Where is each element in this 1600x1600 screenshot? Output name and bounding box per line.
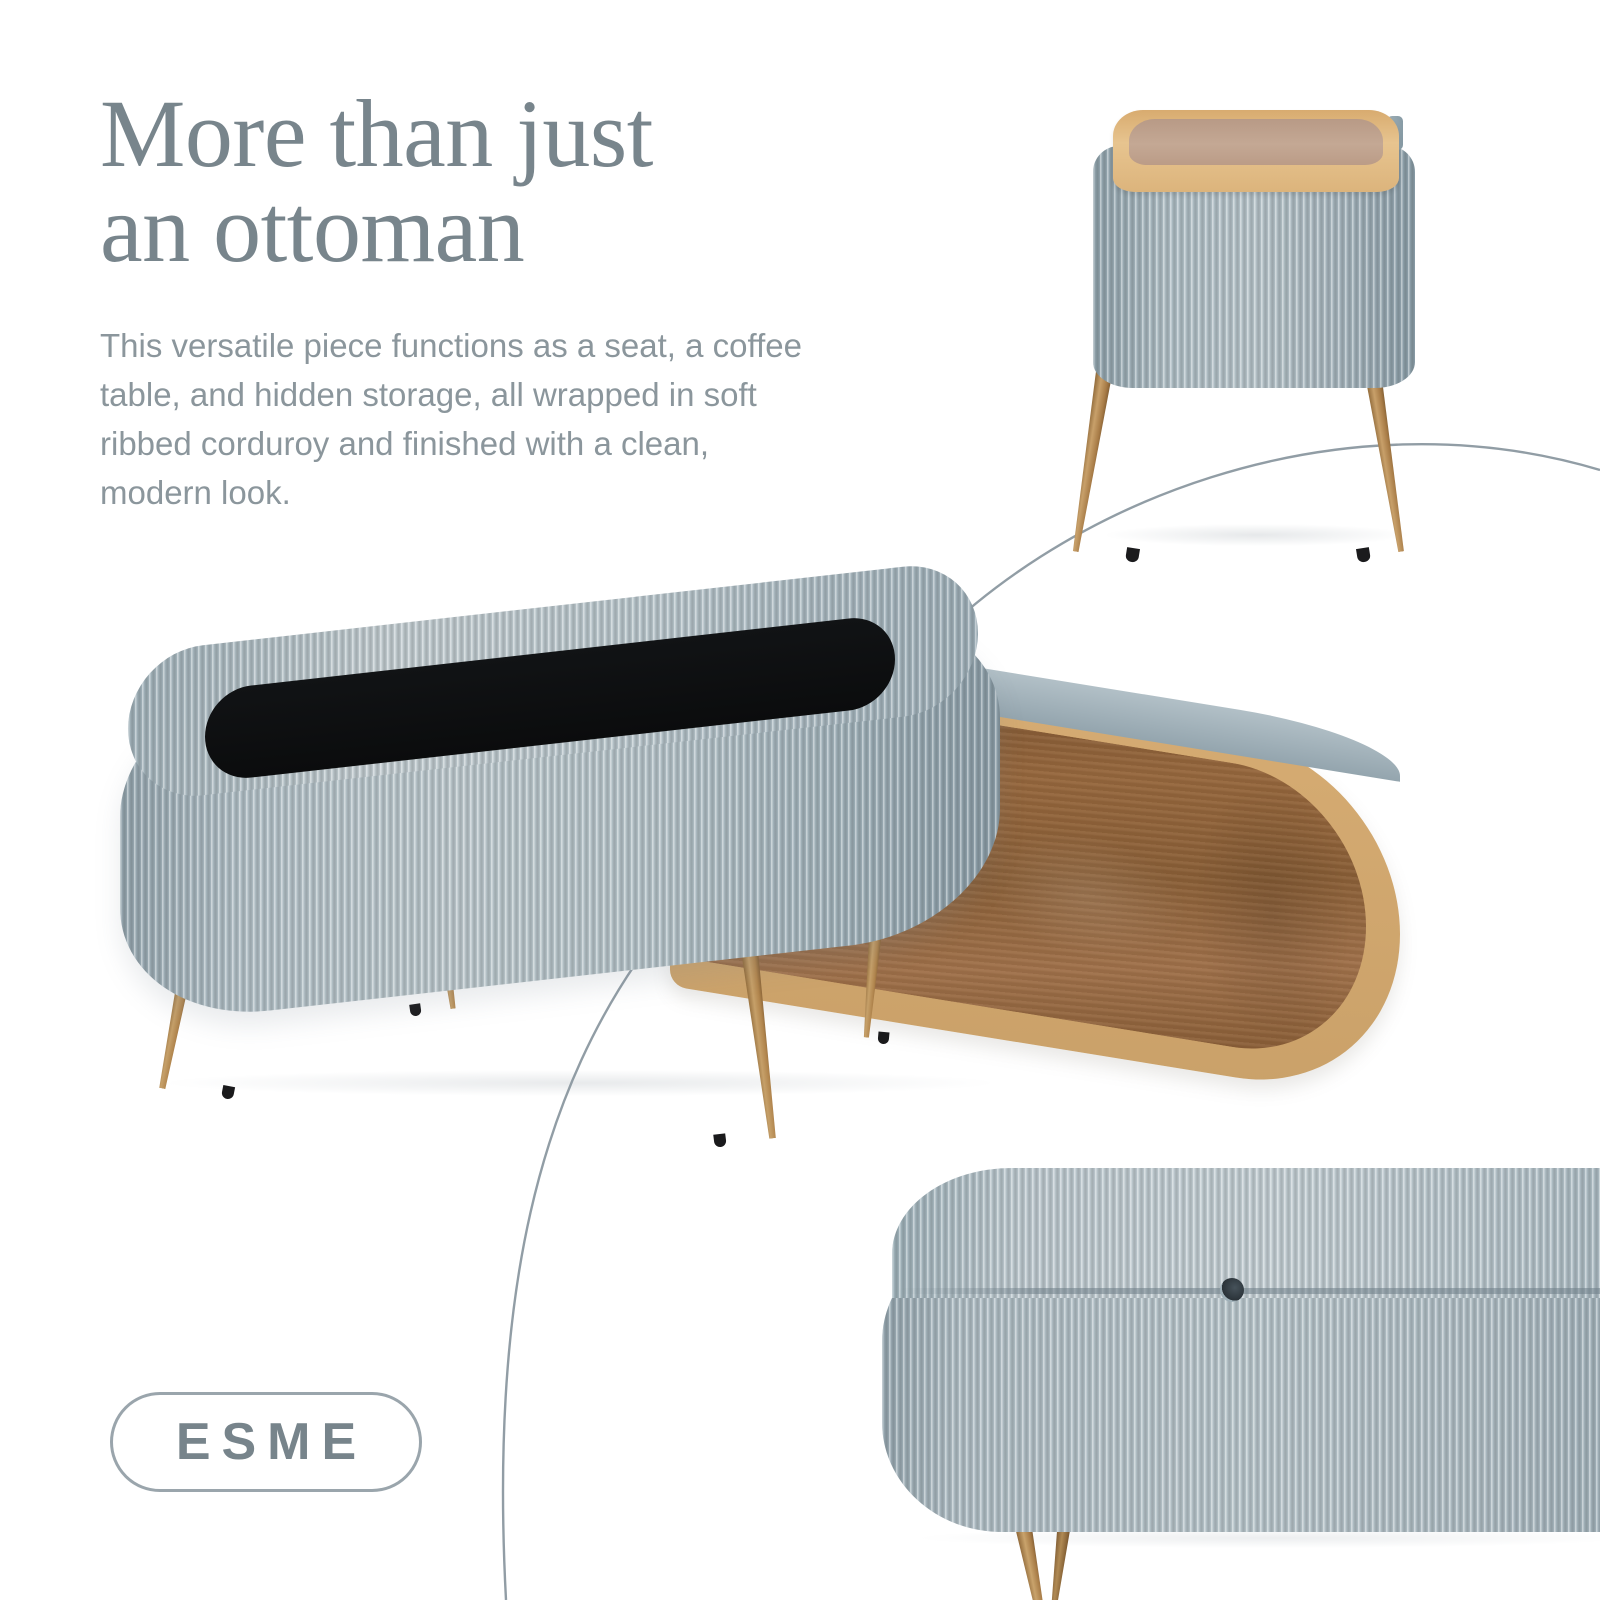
main-foot-2 — [409, 1003, 422, 1016]
end-view-foot-right — [1356, 547, 1371, 563]
end-view-wood-tray-lid — [1113, 110, 1399, 192]
end-view-tray-recess — [1129, 119, 1383, 165]
end-view-foot-left — [1125, 547, 1140, 563]
main-foot-3 — [713, 1133, 726, 1147]
poster-canvas: More than just an ottoman This versatile… — [0, 0, 1600, 1600]
brand-badge-label: ESME — [165, 1412, 367, 1472]
closed-detail-lid-notch — [1220, 1278, 1244, 1302]
copy-block: More than just an ottoman This versatile… — [100, 86, 900, 517]
closed-detail-lid-seam — [898, 1288, 1600, 1294]
brand-badge: ESME — [110, 1392, 422, 1492]
page-title: More than just an ottoman — [100, 86, 900, 276]
product-image-closed-detail — [862, 1160, 1600, 1600]
main-shadow — [170, 1070, 990, 1096]
page-description: This versatile piece functions as a seat… — [100, 322, 830, 517]
end-view-shadow — [1107, 524, 1407, 546]
closed-detail-lid — [892, 1168, 1600, 1298]
main-foot-4 — [877, 1032, 889, 1045]
product-image-main — [110, 630, 1400, 1130]
corduroy-texture — [892, 1168, 1600, 1298]
product-image-end-view — [1035, 88, 1455, 508]
main-foot-1 — [221, 1085, 235, 1100]
